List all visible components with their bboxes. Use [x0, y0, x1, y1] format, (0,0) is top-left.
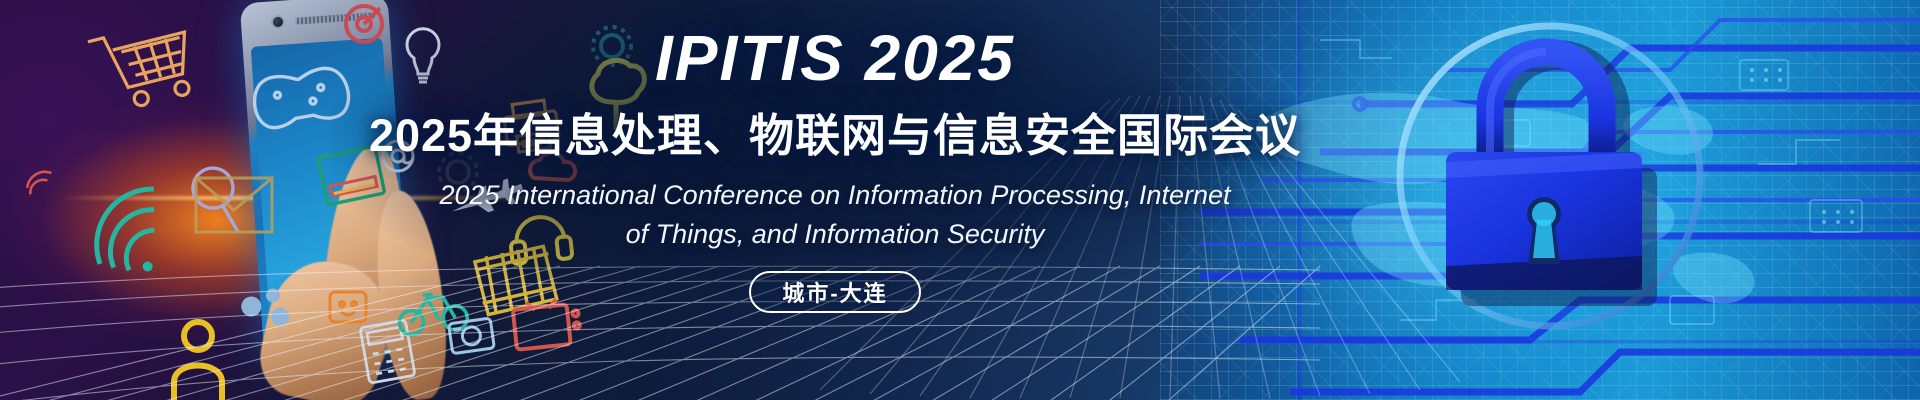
subtitle-line-2: Things, and Information Security [656, 219, 1045, 249]
banner-content: IPITIS 2025 2025年信息处理、物联网与信息安全国际会议 2025 … [330, 0, 1340, 400]
subtitle-english: 2025 International Conference on Informa… [425, 176, 1245, 254]
shopping-cart-icon [88, 19, 199, 115]
title-chinese: 2025年信息处理、物联网与信息安全国际会议 [369, 99, 1301, 164]
page-title: IPITIS 2025 [655, 26, 1015, 91]
conference-banner: IPITIS 2025 2025年信息处理、物联网与信息安全国际会议 2025 … [0, 0, 1920, 400]
city-badge[interactable]: 城市-大连 [749, 271, 921, 313]
padlock-icon [1380, 8, 1720, 348]
